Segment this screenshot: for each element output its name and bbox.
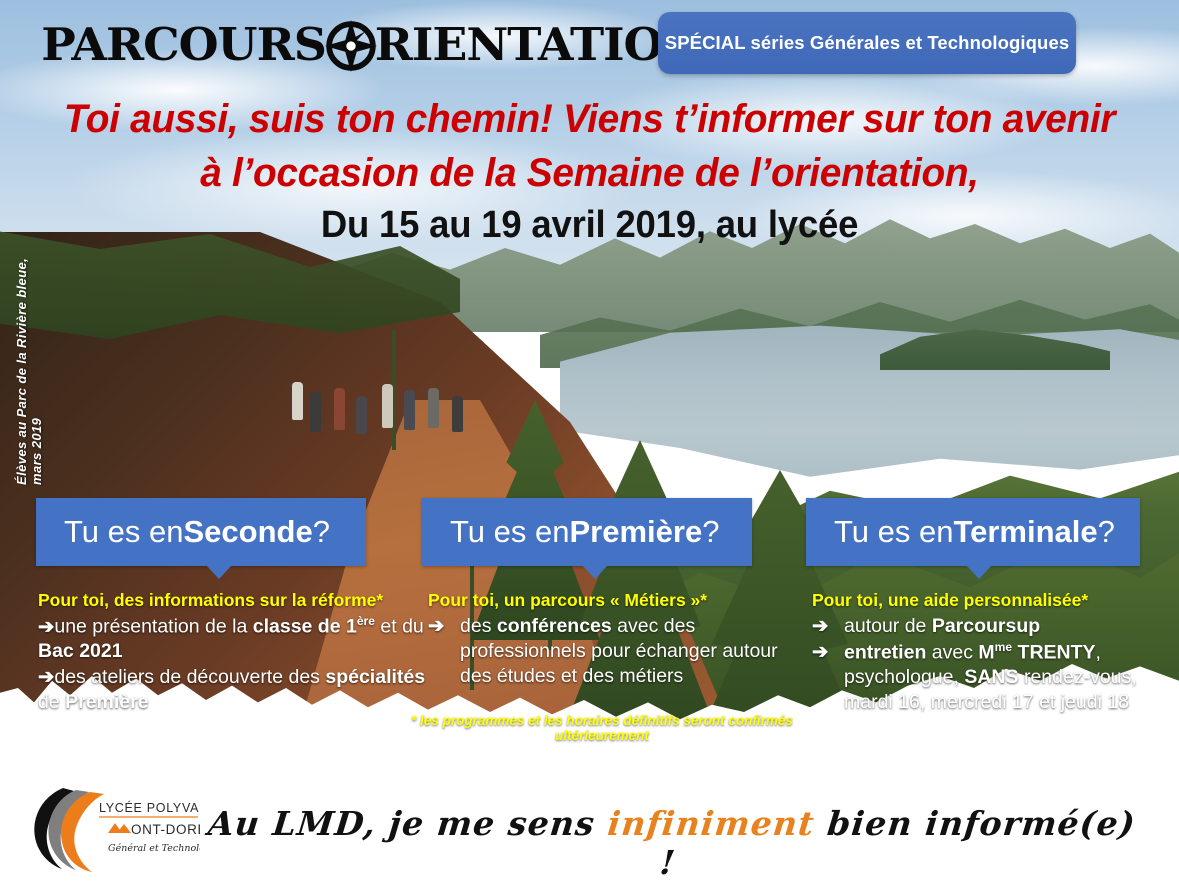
banner-suffix: ? [313, 514, 330, 550]
bullet-item: ➔des ateliers de découverte des spéciali… [38, 665, 428, 715]
hiker-figure [428, 388, 439, 428]
bullet-segment: me [995, 640, 1012, 654]
school-logo: LYCÉE POLYVALENT ONT-DORE Général et Tec… [24, 784, 200, 872]
hiker-figure [452, 396, 463, 432]
banner-prefix: Tu es en [64, 514, 183, 550]
arrow-icon: ➔ [812, 614, 844, 639]
bullet-item: ➔une présentation de la classe de 1ère e… [38, 614, 428, 664]
column-bullets: ➔des conférences avec des professionnels… [428, 614, 798, 689]
hiker-figure [310, 392, 321, 432]
bullet-segment: des ateliers de découverte des [54, 666, 325, 688]
title-orientation: RIENTATION [375, 22, 704, 67]
hiker-figure [334, 388, 345, 430]
banner-prefix: Tu es en [450, 514, 569, 550]
banner-level: Terminale [953, 514, 1097, 550]
bullet-segment: une présentation de la [54, 616, 252, 638]
photo-caption: Élèves au Parc de la Rivière bleue, mars… [14, 225, 44, 485]
hiker-figure [382, 384, 393, 428]
arrow-icon: ➔ [38, 665, 54, 690]
column-heading: Pour toi, une aide personnalisée* [812, 590, 1162, 611]
footer-band: LYCÉE POLYVALENT ONT-DORE Général et Tec… [0, 760, 1179, 882]
banner-level: Seconde [183, 514, 312, 550]
column-premiere: Pour toi, un parcours « Métiers »* ➔des … [428, 590, 798, 690]
bullet-segment: des [460, 615, 497, 637]
date-line: Du 15 au 19 avril 2019, au lycée [24, 204, 1156, 247]
arrow-icon: ➔ [38, 615, 54, 640]
banner-premiere[interactable]: Tu es en Première ? [422, 498, 752, 566]
bullet-segment: et du [375, 616, 424, 638]
hiker-figure [404, 390, 415, 430]
banner-terminale[interactable]: Tu es en Terminale ? [806, 498, 1140, 566]
column-terminale: Pour toi, une aide personnalisée* ➔autou… [812, 590, 1162, 716]
hiker-figure [292, 382, 303, 420]
bullet-item: ➔des conférences avec des professionnels… [428, 614, 798, 689]
bullet-segment: conférences [497, 615, 612, 637]
bullet-segment: entretien [844, 641, 926, 663]
bullet-segment: Bac 2021 [38, 640, 123, 662]
column-bullets: ➔autour de Parcoursup➔entretien avec Mme… [812, 614, 1162, 715]
footer-tagline: Au LMD, je me sens infiniment bien infor… [196, 804, 1144, 882]
bullet-segment: classe de 1 [253, 616, 357, 638]
tagline-highlight: infiniment [606, 804, 817, 843]
bullet-segment: Parcoursup [932, 615, 1040, 637]
column-bullets: ➔une présentation de la classe de 1ère e… [38, 614, 428, 715]
compass-rose-icon [325, 20, 377, 72]
bullet-segment: ère [357, 614, 375, 628]
hiker-figure [356, 396, 367, 434]
footnote-text: * les programmes et les horaires définit… [372, 713, 832, 743]
special-series-badge: SPÉCIAL séries Générales et Technologiqu… [658, 12, 1076, 74]
bullet-item: ➔entretien avec Mme TRENTY, psychologue,… [812, 640, 1162, 715]
column-seconde: Pour toi, des informations sur la réform… [38, 590, 428, 716]
column-heading: Pour toi, des informations sur la réform… [38, 590, 428, 611]
column-heading: Pour toi, un parcours « Métiers »* [428, 590, 798, 611]
logo-line2: ONT-DORE [131, 822, 200, 837]
banner-prefix: Tu es en [834, 514, 953, 550]
bullet-segment: SANS [964, 666, 1018, 688]
bullet-segment: avec [926, 641, 978, 663]
headline-text: Toi aussi, suis ton chemin! Viens t’info… [18, 92, 1162, 200]
banner-suffix: ? [702, 514, 719, 550]
orientation-poster: PARCOURS RIENTATION SPÉCIAL séries Génér… [0, 0, 1179, 882]
bullet-segment: M [978, 641, 994, 663]
arrow-icon: ➔ [812, 640, 844, 665]
bullet-item: ➔autour de Parcoursup [812, 614, 1162, 639]
banner-seconde[interactable]: Tu es en Seconde ? [36, 498, 366, 566]
headline-line2: à l’occasion de la Semaine de l’orientat… [18, 146, 1162, 200]
bullet-segment: Première [65, 691, 148, 713]
bullet-segment: spécialités [325, 666, 425, 688]
arrow-icon: ➔ [428, 614, 460, 639]
bullet-segment: autour de [844, 615, 932, 637]
banner-level: Première [569, 514, 702, 550]
logo-line3: Général et Technologique [108, 843, 200, 854]
title-parcours: PARCOURS [41, 22, 326, 67]
banner-suffix: ? [1098, 514, 1115, 550]
bullet-segment: TRENTY [1012, 641, 1095, 663]
tagline-before: Au LMD, je me sens [206, 804, 610, 843]
logo-line1: LYCÉE POLYVALENT [99, 800, 200, 815]
headline-line1: Toi aussi, suis ton chemin! Viens t’info… [64, 97, 1115, 141]
bullet-segment: de [38, 691, 65, 713]
poster-title: PARCOURS RIENTATION [44, 18, 700, 70]
